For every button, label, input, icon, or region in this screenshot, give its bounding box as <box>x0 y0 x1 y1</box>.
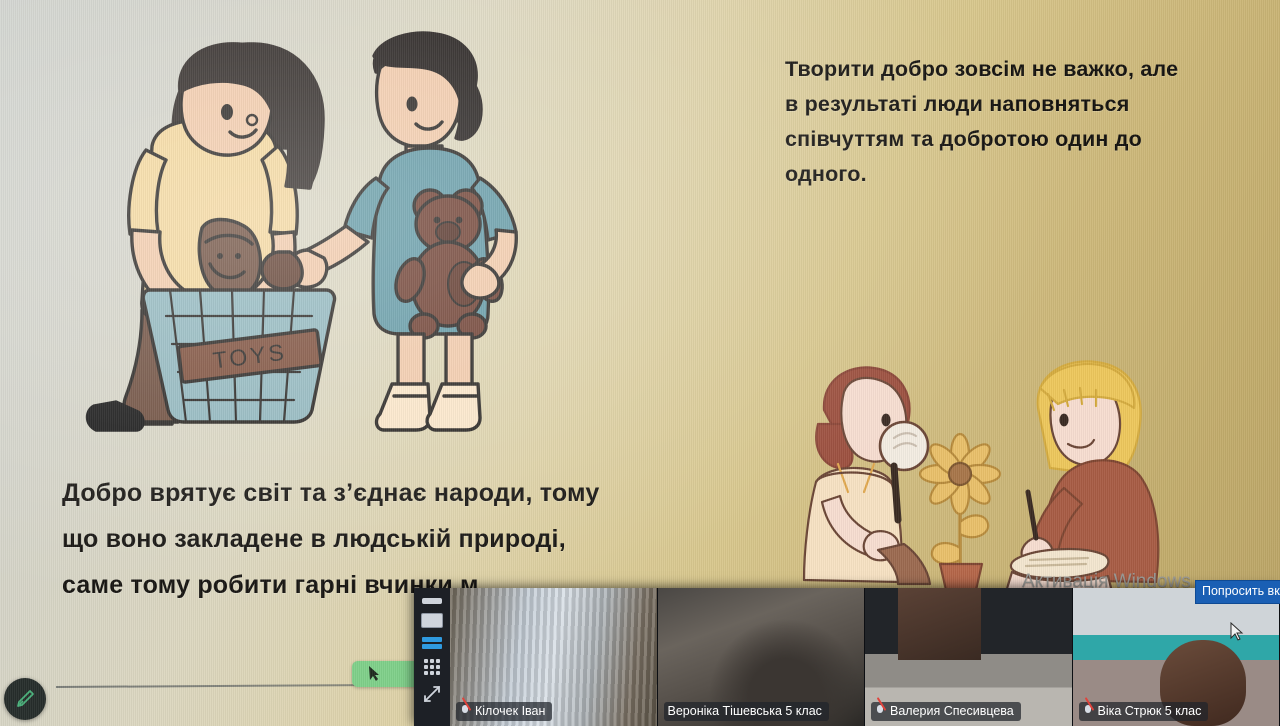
participant-name: Кілочек Іван <box>475 704 545 718</box>
participant-name-badge: Віка Стрюк 5 клас <box>1079 702 1209 721</box>
video-layout-sidebar <box>414 588 450 726</box>
participant-tile[interactable]: Валерия Спесивцева <box>865 588 1073 726</box>
grid-view-icon[interactable] <box>424 659 440 675</box>
pencil-icon <box>14 688 36 710</box>
participant-name-badge: Вероніка Тішевська 5 клас <box>664 702 829 721</box>
single-view-icon[interactable] <box>421 613 443 628</box>
illustration-sharing-toys: TOYS <box>80 28 550 448</box>
speaker-view-icon[interactable] <box>422 598 442 604</box>
split-view-icon[interactable] <box>422 637 442 650</box>
annotate-pencil-button[interactable] <box>4 678 46 720</box>
participant-name-badge: Валерия Спесивцева <box>871 702 1021 721</box>
mic-muted-icon <box>460 704 471 718</box>
slide-quote-top: Творити добро зовсім не важко, але в рез… <box>785 52 1185 192</box>
mouse-cursor-icon <box>1229 622 1245 642</box>
video-conference-panel: ❮ Кілочек Іван Вероніка Тішевська 5 клас… <box>414 588 1280 726</box>
participant-name: Вероніка Тішевська 5 клас <box>668 704 822 718</box>
cursor-arrow-icon <box>366 665 382 683</box>
mic-muted-icon <box>875 704 886 718</box>
participant-name-badge: Кілочек Іван <box>456 702 552 721</box>
participant-tile[interactable]: Вероніка Тішевська 5 клас <box>658 588 866 726</box>
mic-muted-icon <box>1083 704 1094 718</box>
participant-thumbnail-strip: Кілочек Іван Вероніка Тішевська 5 клас В… <box>450 588 1280 726</box>
expand-arrows-icon[interactable] <box>422 684 442 704</box>
participant-name: Валерия Спесивцева <box>890 704 1014 718</box>
participant-tile[interactable]: Віка Стрюк 5 клас <box>1073 588 1280 726</box>
participant-name: Віка Стрюк 5 клас <box>1098 704 1202 718</box>
ask-to-unmute-button[interactable]: Попросить вкл <box>1195 580 1280 604</box>
illustration-children-studying-flower <box>782 352 1182 592</box>
participant-tile[interactable]: Кілочек Іван <box>450 588 658 726</box>
